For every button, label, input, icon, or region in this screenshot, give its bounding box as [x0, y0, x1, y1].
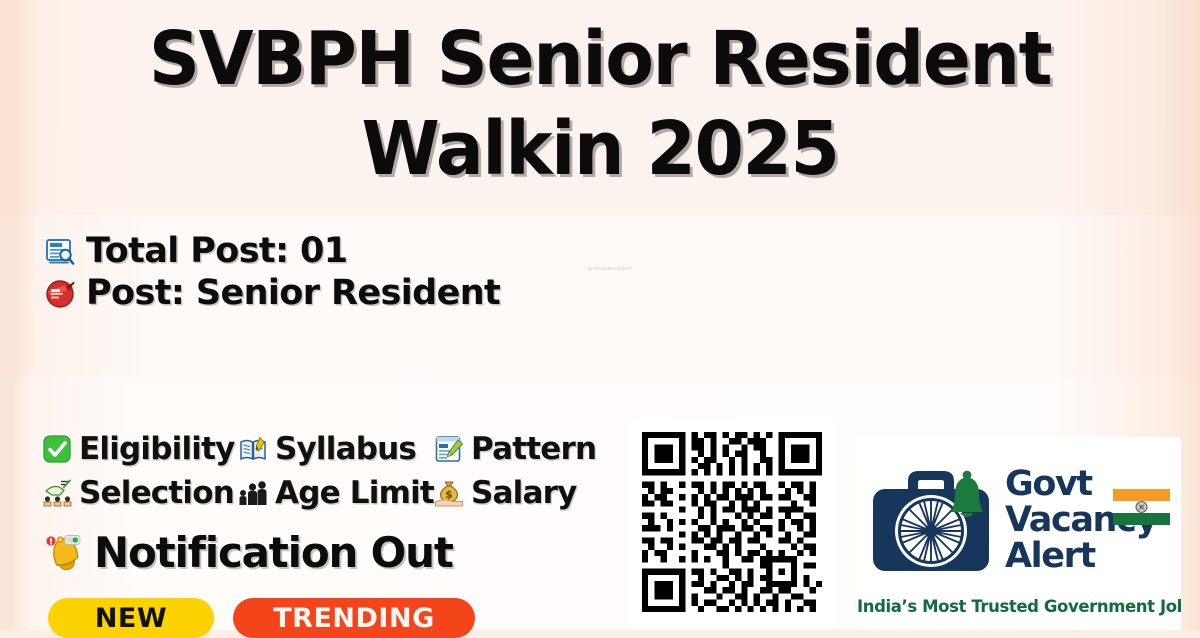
hot-news-icon [44, 277, 76, 309]
svg-text:$: $ [445, 488, 453, 501]
job-document-search-icon [44, 235, 76, 267]
feature-label: Selection [79, 475, 234, 511]
green-check-icon [42, 434, 72, 464]
feature-syllabus: Syllabus [238, 431, 434, 467]
qr-code-panel[interactable] [628, 418, 836, 630]
badge-trending[interactable]: TRENDING [233, 598, 475, 638]
feature-row-1: Eligibility Syllabus [42, 428, 642, 469]
open-book-pen-icon [238, 434, 268, 464]
logo-word-alert: Alert [1005, 538, 1157, 574]
poster-canvas: SVBPH Senior Resident Walkin 2025 Total … [0, 0, 1200, 630]
detail-row: Total Post: 01 [44, 231, 500, 271]
feature-label: Syllabus [275, 431, 416, 467]
notification-out: Notification Out [44, 528, 453, 578]
bell-notification-icon [44, 533, 84, 573]
title-line-1: SVBPH Senior Resident [24, 14, 1176, 104]
page-title: SVBPH Senior Resident Walkin 2025 [0, 14, 1200, 194]
feature-salary: $ Salary [434, 475, 634, 511]
badge-new[interactable]: NEW [48, 598, 214, 638]
india-flag-icon [1113, 489, 1170, 525]
briefcase-chakra-bell-icon [863, 455, 999, 585]
exam-paper-icon [434, 434, 464, 464]
title-line-2: Walkin 2025 [24, 104, 1176, 194]
badge-group: NEW TRENDING [48, 598, 475, 638]
hand-select-icon [42, 478, 72, 508]
money-bag-hand-icon: $ [434, 478, 464, 508]
feature-row-2: Selection Age Limit [42, 472, 642, 513]
detail-text: Total Post: 01 [86, 231, 348, 271]
logo-tagline: India’s Most Trusted Government Job Aler… [857, 597, 1181, 616]
family-people-icon [238, 478, 268, 508]
feature-label: Salary [471, 475, 577, 511]
detail-row: Post: Senior Resident [44, 273, 500, 313]
detail-text: Post: Senior Resident [86, 273, 500, 313]
watermark-artifact: govtvacancyalert [588, 266, 632, 272]
feature-selection: Selection [42, 475, 238, 511]
notification-label: Notification Out [94, 528, 453, 578]
feature-pattern: Pattern [434, 431, 634, 467]
feature-list: Eligibility Syllabus [42, 428, 642, 516]
feature-age-limit: Age Limit [238, 475, 434, 511]
qr-code[interactable] [642, 432, 822, 612]
post-details: Total Post: 01 Post: Senior Resident [44, 231, 500, 315]
feature-eligibility: Eligibility [42, 431, 238, 467]
feature-label: Age Limit [275, 475, 434, 511]
feature-label: Pattern [471, 431, 596, 467]
govt-vacancy-alert-logo-panel: Govt Vacancy Alert India’s Most Trusted … [857, 437, 1181, 630]
feature-label: Eligibility [79, 431, 235, 467]
